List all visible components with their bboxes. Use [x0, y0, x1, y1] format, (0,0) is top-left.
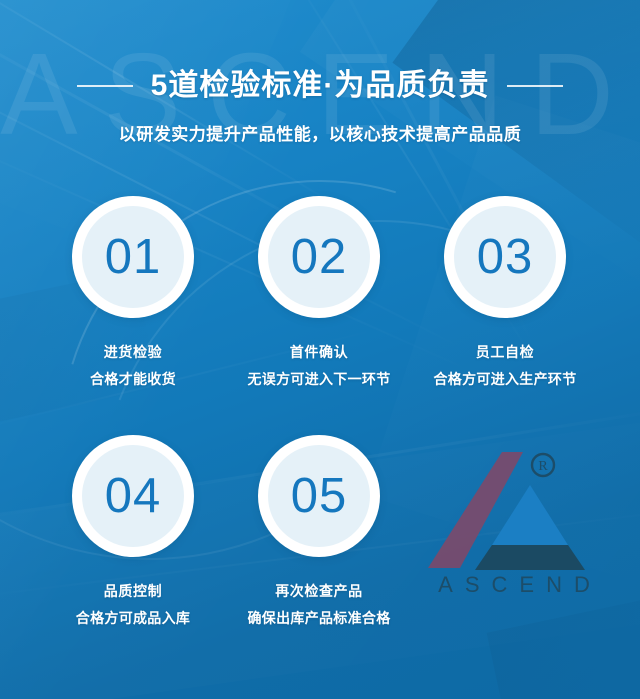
- step-label-main: 员工自检: [434, 342, 577, 362]
- page-subtitle: 以研发实力提升产品性能，以核心技术提高产品品质: [0, 120, 640, 145]
- step-label-main: 首件确认: [248, 342, 391, 362]
- step-circle-inner: 03: [454, 206, 556, 308]
- logo-wordmark: ASCEND: [438, 572, 602, 597]
- step-label-main: 品质控制: [76, 581, 190, 601]
- step-number: 05: [291, 472, 348, 521]
- step-circle-inner: 02: [268, 206, 370, 308]
- step-circle-inner: 01: [82, 206, 184, 308]
- title-rule-left: [77, 85, 133, 87]
- step-circle: 05: [258, 435, 380, 557]
- step-label-main: 再次检查产品: [248, 581, 391, 601]
- step-circle-inner: 04: [82, 445, 184, 547]
- step-label-sub: 合格方可成品入库: [76, 608, 190, 628]
- step-number: 01: [105, 233, 162, 282]
- header: 5道检验标准·为品质负责 以研发实力提升产品性能，以核心技术提高产品品质: [0, 68, 640, 145]
- step-number: 02: [291, 233, 348, 282]
- logo-base-trapezoid: [475, 545, 585, 570]
- step-circle: 01: [72, 196, 194, 318]
- step-item-03: 03 员工自检 合格方可进入生产环节: [412, 196, 598, 389]
- step-circle-inner: 05: [268, 445, 370, 547]
- step-labels: 进货检验 合格才能收货: [90, 342, 176, 389]
- step-labels: 再次检查产品 确保出库产品标准合格: [248, 581, 391, 628]
- poster-root: ASCEND 5道检验标准·为品质负责 以研发实力提升产品性能，以核心技术提高产…: [0, 0, 640, 699]
- registered-mark-letter: R: [538, 459, 548, 474]
- title-rule-right: [507, 85, 563, 87]
- step-labels: 首件确认 无误方可进入下一环节: [248, 342, 391, 389]
- step-label-sub: 确保出库产品标准合格: [248, 608, 391, 628]
- step-label-sub: 合格方可进入生产环节: [434, 369, 577, 389]
- ascend-logo: R ASCEND: [420, 440, 620, 600]
- step-label-main: 进货检验: [90, 342, 176, 362]
- page-title: 5道检验标准·为品质负责: [151, 68, 490, 104]
- step-item-05: 05 再次检查产品 确保出库产品标准合格: [226, 435, 412, 628]
- step-circle: 02: [258, 196, 380, 318]
- step-item-04: 04 品质控制 合格方可成品入库: [40, 435, 226, 628]
- logo-triangle: [492, 485, 568, 545]
- step-item-01: 01 进货检验 合格才能收货: [40, 196, 226, 389]
- step-labels: 品质控制 合格方可成品入库: [76, 581, 190, 628]
- step-circle: 03: [444, 196, 566, 318]
- step-number: 03: [477, 233, 534, 282]
- step-label-sub: 合格才能收货: [90, 369, 176, 389]
- step-labels: 员工自检 合格方可进入生产环节: [434, 342, 577, 389]
- step-number: 04: [105, 472, 162, 521]
- step-item-02: 02 首件确认 无误方可进入下一环节: [226, 196, 412, 389]
- step-label-sub: 无误方可进入下一环节: [248, 369, 391, 389]
- steps-row-one: 01 进货检验 合格才能收货 02 首件确认 无误方可进入下一环节: [40, 196, 600, 389]
- step-circle: 04: [72, 435, 194, 557]
- title-row: 5道检验标准·为品质负责: [0, 68, 640, 104]
